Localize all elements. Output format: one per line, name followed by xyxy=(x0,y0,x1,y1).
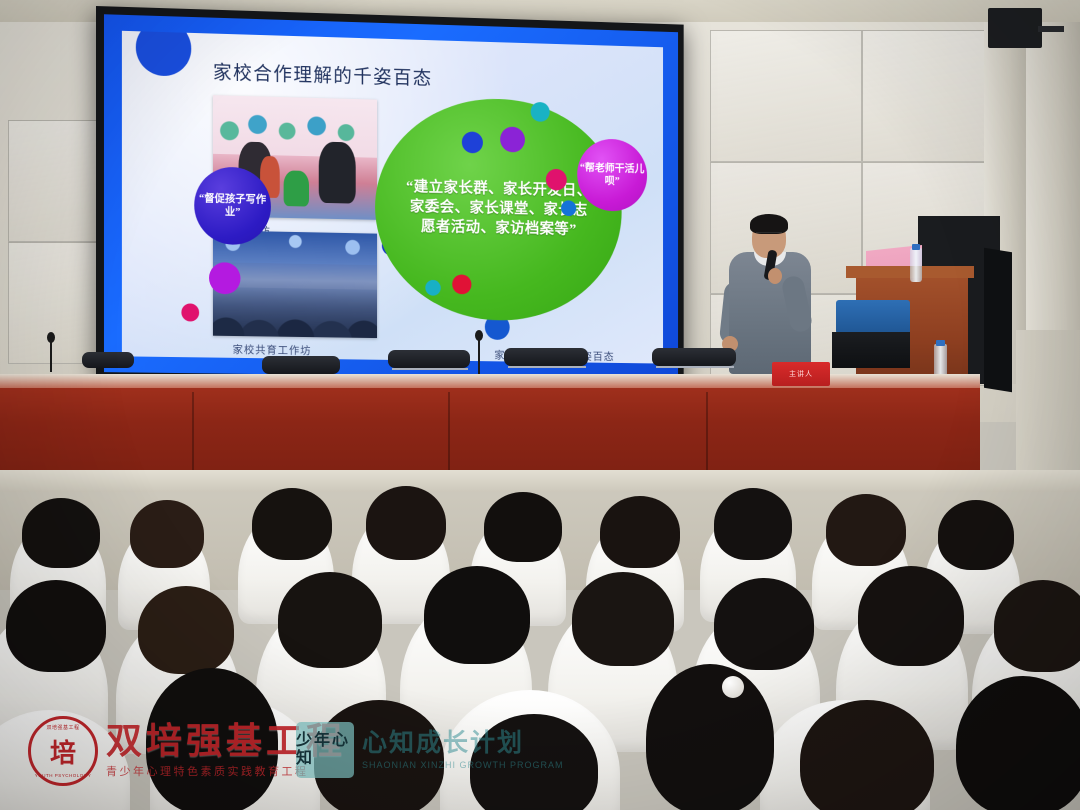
secondary-watermark-subtitle: SHAONIAN XINZHI GROWTH PROGRAM xyxy=(362,760,564,770)
wall-panel xyxy=(862,30,986,162)
emblem-ring-bottom-text: YOUTH PSYCHOLOGY xyxy=(35,773,92,778)
audience-head xyxy=(826,494,906,566)
speaker-mount-arm xyxy=(1038,26,1064,32)
audience-head xyxy=(6,580,106,672)
table-microphone xyxy=(478,336,480,374)
audience-head xyxy=(800,700,934,810)
right-concept-bubble: “帮老师干活儿呗” xyxy=(577,138,647,212)
audience-head xyxy=(646,664,774,810)
speaker-right-hand xyxy=(768,268,782,284)
projection-screen: 家校合作理解的千姿百态 家访 家校共育工作坊 家校合作理解的千姿百态 xyxy=(96,6,684,387)
audience-head xyxy=(714,488,792,560)
audience-head xyxy=(424,566,530,664)
water-bottle xyxy=(910,248,922,282)
name-card: 主讲人 xyxy=(772,362,830,386)
chair-leg xyxy=(508,366,586,376)
audience-head xyxy=(22,498,100,568)
chair-leg xyxy=(392,368,468,378)
decor-dot-icon xyxy=(531,102,550,122)
blackboard-side xyxy=(984,248,1012,392)
secondary-badge-icon: 少年心知 xyxy=(296,722,354,778)
stage-step xyxy=(0,470,1080,492)
audience-head xyxy=(138,586,234,674)
wall-speaker-icon xyxy=(988,8,1042,48)
projector xyxy=(836,300,910,334)
audience-head xyxy=(956,676,1080,810)
decor-dot-icon xyxy=(181,303,199,321)
wall-panel xyxy=(8,120,102,242)
presentation-slide: 家校合作理解的千姿百态 家访 家校共育工作坊 家校合作理解的千姿百态 xyxy=(122,31,663,364)
decor-dot-icon xyxy=(452,274,471,294)
audience-head xyxy=(600,496,680,568)
slide-decor-dot-icon xyxy=(136,31,191,77)
audience-head xyxy=(858,566,964,666)
stage-chair xyxy=(82,352,134,368)
decor-dot-icon xyxy=(462,131,483,153)
hair-clip-icon xyxy=(722,676,744,698)
decor-dot-icon xyxy=(500,126,525,152)
table-microphone xyxy=(50,338,52,372)
speaker-hair xyxy=(750,214,788,234)
decor-dot-icon xyxy=(561,200,576,216)
decor-dot-icon xyxy=(546,169,567,191)
screenshot-scene: 家校合作理解的千姿百态 家访 家校共育工作坊 家校合作理解的千姿百态 xyxy=(0,0,1080,810)
microphone-head-icon xyxy=(47,332,55,343)
slide-title: 家校合作理解的千姿百态 xyxy=(213,57,433,90)
audience-head xyxy=(366,486,446,560)
bottle-cap-icon xyxy=(912,244,920,250)
stage-chair xyxy=(262,356,340,374)
secondary-watermark-title: 心知成长计划 xyxy=(362,731,564,756)
left-concept-bubble: “督促孩子写作业” xyxy=(194,166,271,245)
audience-head xyxy=(714,578,814,670)
screen-blue-border: 家校合作理解的千姿百态 家访 家校共育工作坊 家校合作理解的千姿百态 xyxy=(104,14,678,379)
right-concept-text: “帮老师干活儿呗” xyxy=(577,161,647,188)
audience-head xyxy=(130,500,204,568)
organization-emblem-icon: 双培强基工程 培 YOUTH PSYCHOLOGY xyxy=(28,716,98,786)
audience-head xyxy=(484,492,562,562)
emblem-ring-top-text: 双培强基工程 xyxy=(46,724,79,731)
audience-head xyxy=(278,572,382,668)
watermark-secondary: 少年心知 心知成长计划 SHAONIAN XINZHI GROWTH PROGR… xyxy=(296,722,564,778)
name-card-text: 主讲人 xyxy=(789,369,813,379)
decor-dot-icon xyxy=(425,280,440,296)
wall-panel xyxy=(8,242,102,364)
stage-chair xyxy=(388,350,470,368)
stage-chair xyxy=(652,348,736,366)
glasses-icon xyxy=(756,232,782,239)
left-concept-text: “督促孩子写作业” xyxy=(194,192,271,220)
audience-head xyxy=(252,488,332,560)
emblem-glyph: 培 xyxy=(50,733,76,770)
main-concept-bubble: “建立家长群、家长开发日、家委会、家长课堂、家长志愿者活动、家访档案等” xyxy=(375,96,622,323)
wall-panel xyxy=(710,30,862,162)
audience-head xyxy=(994,580,1080,672)
bottle-cap-icon xyxy=(936,340,945,346)
chair-leg xyxy=(656,366,734,376)
audience-head xyxy=(572,572,674,666)
stage-chair xyxy=(504,348,588,366)
audience-head xyxy=(938,500,1014,570)
laptop xyxy=(832,332,910,368)
microphone-head-icon xyxy=(475,330,483,341)
decor-dot-icon xyxy=(209,262,240,294)
